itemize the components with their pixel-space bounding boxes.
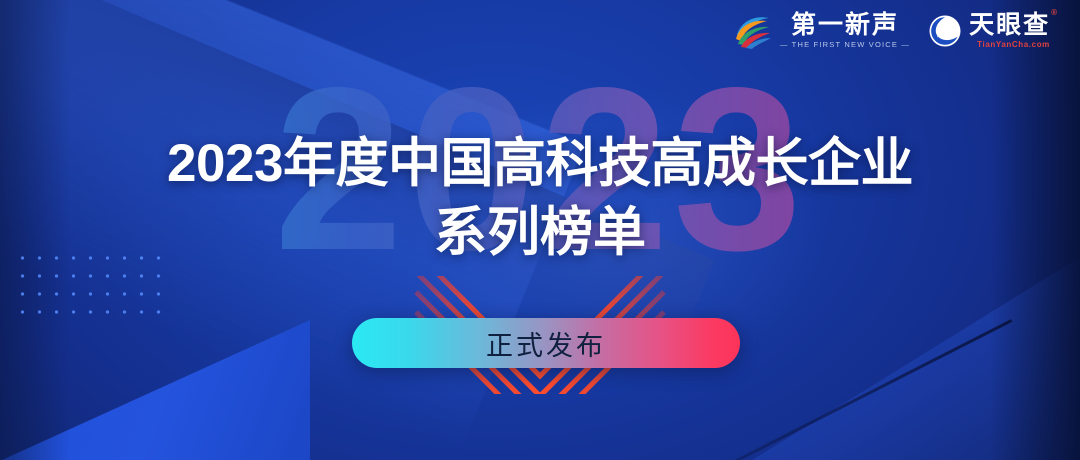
logo-tianyancha[interactable]: 天眼查® TianYanCha.com <box>928 13 1058 49</box>
release-button[interactable]: 正式发布 <box>352 318 740 368</box>
headline-line-1: 2023年度中国高科技高成长企业 <box>0 128 1080 199</box>
page-title: 2023年度中国高科技高成长企业 系列榜单 <box>0 128 1080 268</box>
swoosh-ribbon-icon <box>733 13 773 49</box>
logo-tagline-diyixinsheng: — THE FIRST NEW VOICE — <box>780 41 910 49</box>
headline-line-2: 系列榜单 <box>0 197 1080 268</box>
logo-diyixinsheng[interactable]: 第一新声 — THE FIRST NEW VOICE — <box>733 13 910 49</box>
logo-name-text: 天眼查 <box>969 11 1050 39</box>
camera-aperture-icon <box>928 14 962 48</box>
logo-name-tianyancha: 天眼查® <box>969 13 1058 38</box>
logo-tagline-tianyancha: TianYanCha.com <box>977 41 1050 49</box>
logo-group: 第一新声 — THE FIRST NEW VOICE — 天眼查® TianYa… <box>733 13 1058 49</box>
promo-banner: 2023 2023年度中国高科技高成长企业 系列榜单 正式发布 <box>0 0 1080 460</box>
logo-name-diyixinsheng: 第一新声 <box>791 13 899 38</box>
registered-mark-icon: ® <box>1051 8 1059 17</box>
